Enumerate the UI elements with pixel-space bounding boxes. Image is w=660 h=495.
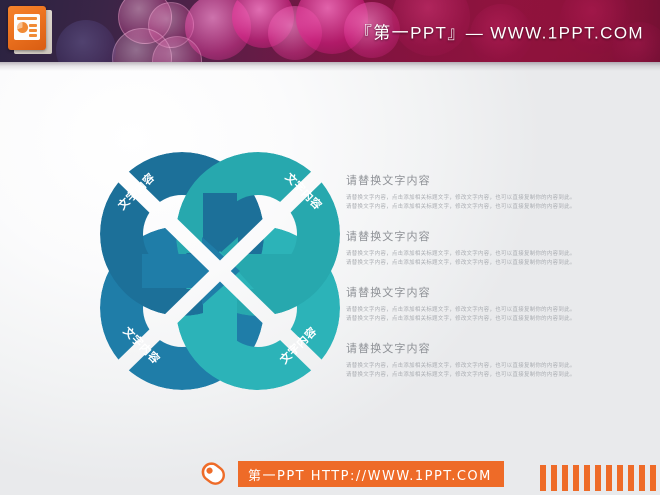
logo-bar [17,17,37,20]
header-title: 『第一PPT』— WWW.1PPT.COM [355,19,644,44]
header-shadow [0,62,660,71]
bokeh-circle [112,28,172,62]
text-block-heading: 请替换文字内容 [346,228,642,244]
logo-card-shape [14,14,40,40]
slide-canvas: 『第一PPT』— WWW.1PPT.COM [0,0,660,495]
bokeh-circle [118,0,172,44]
text-block-heading: 请替换文字内容 [346,340,642,356]
text-block-line: 请替换文字内容，点击添加相关标题文字，修改文字内容，也可以直接复制你的内容到此。 [346,362,642,371]
pencil-icon [196,459,230,489]
logo-pie-chart-icon [17,22,28,33]
text-block: 请替换文字内容 请替换文字内容，点击添加相关标题文字，修改文字内容，也可以直接复… [346,228,642,268]
petal-top-right [176,152,340,316]
footer-stripe [562,465,568,491]
text-block-line: 请替换文字内容，点击添加相关标题文字，修改文字内容，也可以直接复制你的内容到此。 [346,371,642,380]
footer-url-plate: 第一PPT HTTP://WWW.1PPT.COM [238,461,504,487]
text-block: 请替换文字内容 请替换文字内容，点击添加相关标题文字，修改文字内容，也可以直接复… [346,284,642,324]
footer-stripe [551,465,557,491]
footer-url-text: 第一PPT HTTP://WWW.1PPT.COM [248,465,492,484]
bokeh-circle [148,2,194,48]
footer-stripe [584,465,590,491]
text-content-column: 请替换文字内容 请替换文字内容，点击添加相关标题文字，修改文字内容，也可以直接复… [346,172,642,380]
logo-body-shape [8,6,46,50]
text-block-line: 请替换文字内容，点击添加相关标题文字，修改文字内容，也可以直接复制你的内容到此。 [346,315,642,324]
bokeh-circle [56,20,116,62]
powerpoint-icon [8,6,52,54]
footer-stripe [540,465,546,491]
bokeh-circle [232,0,294,48]
footer-stripe-group [540,465,656,491]
text-block-line: 请替换文字内容，点击添加相关标题文字，修改文字内容，也可以直接复制你的内容到此。 [346,250,642,259]
bokeh-circle [152,36,202,62]
footer-stripe [628,465,634,491]
text-block-line: 请替换文字内容，点击添加相关标题文字，修改文字内容，也可以直接复制你的内容到此。 [346,259,642,268]
text-block-heading: 请替换文字内容 [346,284,642,300]
logo-bar [29,24,37,27]
text-block: 请替换文字内容 请替换文字内容，点击添加相关标题文字，修改文字内容，也可以直接复… [346,340,642,380]
logo-bar [29,29,37,32]
text-block: 请替换文字内容 请替换文字内容，点击添加相关标题文字，修改文字内容，也可以直接复… [346,172,642,212]
footer-stripe [595,465,601,491]
text-block-line: 请替换文字内容，点击添加相关标题文字，修改文字内容，也可以直接复制你的内容到此。 [346,306,642,315]
four-part-pinwheel-cycle-diagram: 文字内容 文字内容 文字内容 文字内容 [98,152,342,390]
text-block-line: 请替换文字内容，点击添加相关标题文字，修改文字内容，也可以直接复制你的内容到此。 [346,194,642,203]
logo-bar [29,34,37,37]
text-block-heading: 请替换文字内容 [346,172,642,188]
text-block-line: 请替换文字内容，点击添加相关标题文字，修改文字内容，也可以直接复制你的内容到此。 [346,203,642,212]
footer-stripe [573,465,579,491]
footer-stripe [639,465,645,491]
footer-stripe [606,465,612,491]
footer-stripe [650,465,656,491]
footer-brand-group: 第一PPT HTTP://WWW.1PPT.COM [196,459,504,489]
footer-bar: 第一PPT HTTP://WWW.1PPT.COM [0,453,660,495]
bokeh-circle [268,6,322,60]
bokeh-circle [185,0,251,60]
footer-stripe [617,465,623,491]
header-banner: 『第一PPT』— WWW.1PPT.COM [0,0,660,62]
